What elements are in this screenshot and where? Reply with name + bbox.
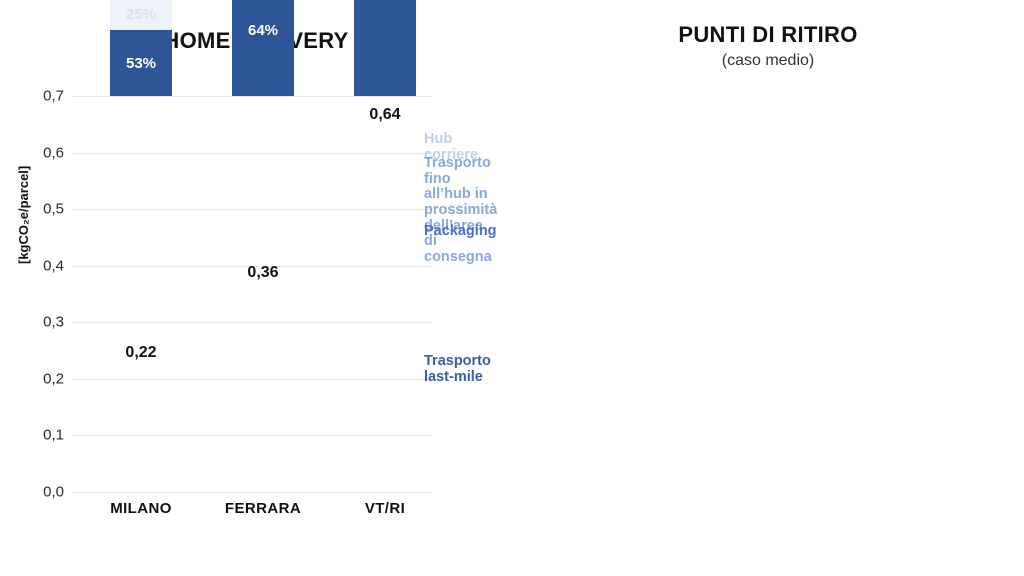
segment-percent-label: 53% bbox=[126, 56, 156, 71]
y-axis-tick: 0,7 bbox=[43, 88, 64, 105]
y-axis-tick: 0,3 bbox=[43, 314, 64, 331]
bar-ferrara[interactable]: 12%15%64% bbox=[232, 0, 294, 96]
gridline bbox=[72, 209, 432, 210]
bar-segment: 25% bbox=[110, 0, 172, 30]
y-axis-tick: 0,4 bbox=[43, 257, 64, 274]
gridline bbox=[72, 435, 432, 436]
bar-total-label: 0,36 bbox=[183, 264, 343, 282]
bar-vt-ri[interactable]: 20%9%66% bbox=[354, 0, 416, 96]
gridline bbox=[72, 153, 432, 154]
bar-segment: 64% bbox=[232, 0, 294, 96]
x-axis-label-vt-ri: VT/RI bbox=[305, 500, 465, 517]
y-axis-tick: 0,2 bbox=[43, 370, 64, 387]
gridline bbox=[72, 379, 432, 380]
bar-milano[interactable]: 8%25%53% bbox=[110, 0, 172, 96]
gridline bbox=[72, 322, 432, 323]
chart-title-punti-di-ritiro: PUNTI DI RITIRO bbox=[512, 22, 1024, 48]
segment-percent-label: 64% bbox=[248, 23, 278, 38]
legend-item: Packaging bbox=[424, 224, 497, 240]
segment-percent-label: 25% bbox=[126, 7, 156, 22]
bar-segment: 53% bbox=[110, 30, 172, 96]
y-axis-tick: 0,0 bbox=[43, 484, 64, 501]
y-axis-tick: 0,6 bbox=[43, 144, 64, 161]
gridline bbox=[72, 492, 432, 493]
legend-item: Trasporto last-mile bbox=[424, 354, 491, 385]
punti-di-ritiro-panel: PUNTI DI RITIRO (caso medio) 39%19%0,14M… bbox=[512, 0, 1024, 576]
y-axis-tick: 0,1 bbox=[43, 427, 64, 444]
bar-total-label: 0,64 bbox=[305, 106, 465, 124]
bar-total-label: 0,22 bbox=[61, 344, 221, 362]
y-axis-label: [kgCO₂e/parcel] bbox=[16, 166, 31, 264]
gridline bbox=[72, 96, 432, 97]
y-axis-tick: 0,5 bbox=[43, 201, 64, 218]
chart-subtitle-punti-di-ritiro: (caso medio) bbox=[512, 52, 1024, 70]
plot-area-home-delivery: 0,00,10,20,30,40,50,60,78%25%53%0,22MILA… bbox=[72, 96, 492, 492]
legend-item: Trasporto fino all’hub in prossimità del… bbox=[424, 156, 497, 266]
bar-segment: 66% bbox=[354, 0, 416, 96]
home-delivery-panel: HOME DELIVERY [kgCO₂e/parcel] 0,00,10,20… bbox=[0, 0, 512, 576]
